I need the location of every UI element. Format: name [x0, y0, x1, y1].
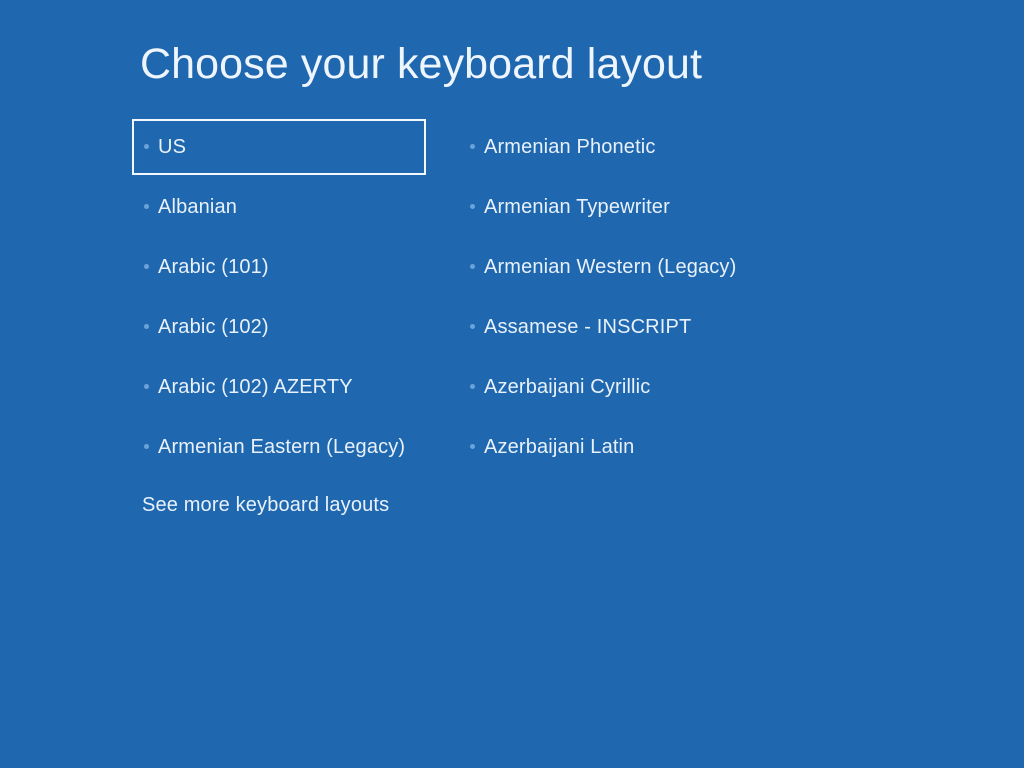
keyboard-layout-option[interactable]: Albanian [132, 179, 426, 235]
layout-list-left-column: USAlbanianArabic (101)Arabic (102)Arabic… [132, 119, 426, 479]
keyboard-layout-option-label: Albanian [158, 195, 237, 219]
keyboard-layout-option[interactable]: Armenian Typewriter [458, 179, 788, 235]
bullet-dot-icon [144, 264, 149, 269]
keyboard-layout-option-label: US [158, 135, 186, 159]
bullet-dot-icon [470, 324, 475, 329]
keyboard-layout-option[interactable]: Armenian Phonetic [458, 119, 788, 175]
keyboard-layout-option-label: Armenian Phonetic [484, 135, 656, 159]
bullet-dot-icon [144, 444, 149, 449]
bullet-dot-icon [144, 324, 149, 329]
see-more-keyboard-layouts-link[interactable]: See more keyboard layouts [142, 492, 389, 518]
keyboard-layout-option[interactable]: Azerbaijani Latin [458, 419, 788, 475]
bullet-dot-icon [470, 264, 475, 269]
keyboard-layout-option-label: Armenian Western (Legacy) [484, 255, 736, 279]
bullet-dot-icon [470, 444, 475, 449]
keyboard-layout-option-label: Arabic (102) [158, 315, 269, 339]
keyboard-layout-option[interactable]: Arabic (102) AZERTY [132, 359, 426, 415]
keyboard-layout-option[interactable]: Armenian Eastern (Legacy) [132, 419, 426, 475]
keyboard-layout-option[interactable]: Arabic (101) [132, 239, 426, 295]
bullet-dot-icon [144, 384, 149, 389]
page-title: Choose your keyboard layout [140, 38, 702, 90]
keyboard-layout-option-label: Armenian Eastern (Legacy) [158, 435, 405, 459]
bullet-dot-icon [470, 144, 475, 149]
keyboard-layout-screen: Choose your keyboard layout USAlbanianAr… [0, 0, 1024, 768]
keyboard-layout-option[interactable]: Armenian Western (Legacy) [458, 239, 788, 295]
layout-list-right-column: Armenian PhoneticArmenian TypewriterArme… [458, 119, 788, 479]
keyboard-layout-option[interactable]: US [132, 119, 426, 175]
keyboard-layout-option-label: Armenian Typewriter [484, 195, 670, 219]
bullet-dot-icon [470, 204, 475, 209]
keyboard-layout-option-label: Azerbaijani Cyrillic [484, 375, 650, 399]
keyboard-layout-option-label: Arabic (102) AZERTY [158, 375, 353, 399]
bullet-dot-icon [144, 144, 149, 149]
bullet-dot-icon [144, 204, 149, 209]
keyboard-layout-option-label: Azerbaijani Latin [484, 435, 634, 459]
bullet-dot-icon [470, 384, 475, 389]
keyboard-layout-option-label: Arabic (101) [158, 255, 269, 279]
keyboard-layout-option-label: Assamese - INSCRIPT [484, 315, 691, 339]
keyboard-layout-option[interactable]: Assamese - INSCRIPT [458, 299, 788, 355]
keyboard-layout-option[interactable]: Azerbaijani Cyrillic [458, 359, 788, 415]
keyboard-layout-option[interactable]: Arabic (102) [132, 299, 426, 355]
